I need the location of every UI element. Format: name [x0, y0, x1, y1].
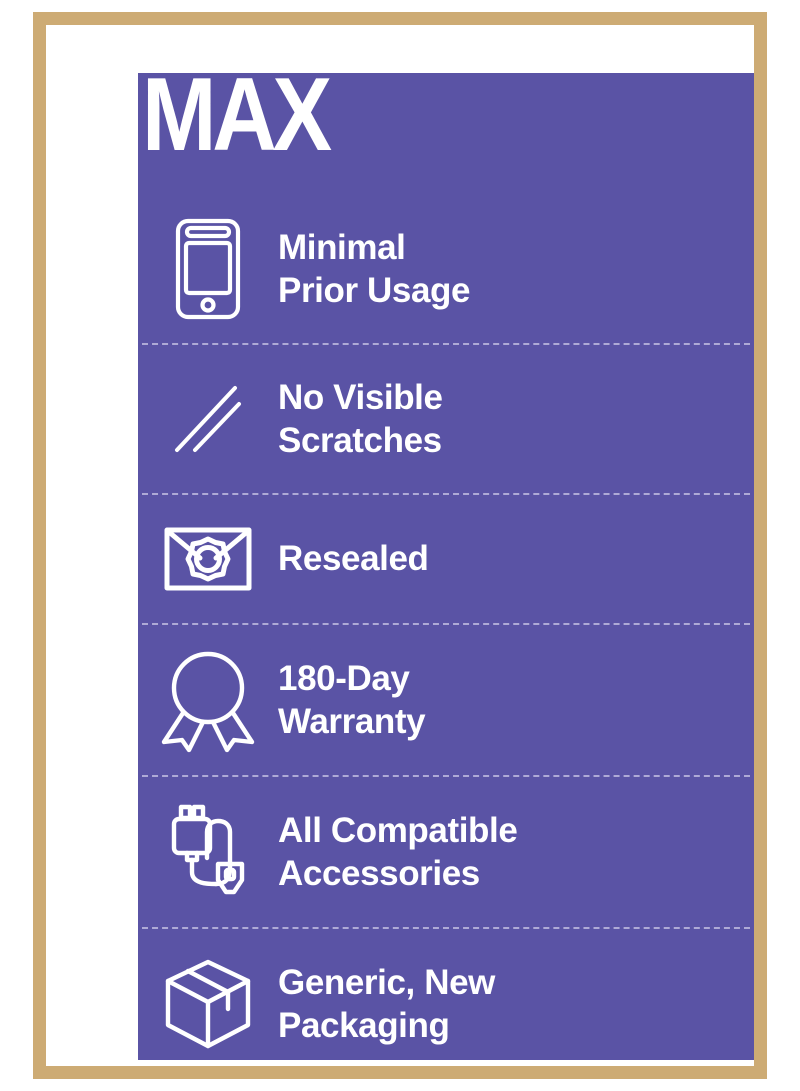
list-item-label: No Visible Scratches [278, 376, 443, 463]
smartphone-icon [138, 217, 278, 321]
list-item-label: All Compatible Accessories [278, 809, 517, 896]
award-ribbon-icon [138, 646, 278, 754]
list-item-label: Minimal Prior Usage [278, 226, 470, 313]
feature-list: Minimal Prior Usage No Visible Scratches [138, 195, 754, 1079]
list-item: Resealed [138, 495, 754, 623]
list-item-label: 180-Day Warranty [278, 657, 425, 744]
scratches-icon [138, 380, 278, 458]
list-item-label: Resealed [278, 537, 429, 580]
white-mat: MAX Minimal Prior Usage [46, 25, 754, 1066]
list-item: Generic, New Packaging [138, 929, 754, 1079]
list-item: 180-Day Warranty [138, 625, 754, 775]
package-box-icon [138, 957, 278, 1051]
list-item: Minimal Prior Usage [138, 195, 754, 343]
usb-cable-icon [138, 802, 278, 902]
purple-panel: MAX Minimal Prior Usage [138, 73, 754, 1060]
brand-wordmark: MAX [142, 63, 328, 167]
gold-picture-frame: MAX Minimal Prior Usage [33, 12, 767, 1079]
list-item: No Visible Scratches [138, 345, 754, 493]
sealed-envelope-icon [138, 523, 278, 595]
list-item-label: Generic, New Packaging [278, 961, 495, 1048]
list-item: All Compatible Accessories [138, 777, 754, 927]
